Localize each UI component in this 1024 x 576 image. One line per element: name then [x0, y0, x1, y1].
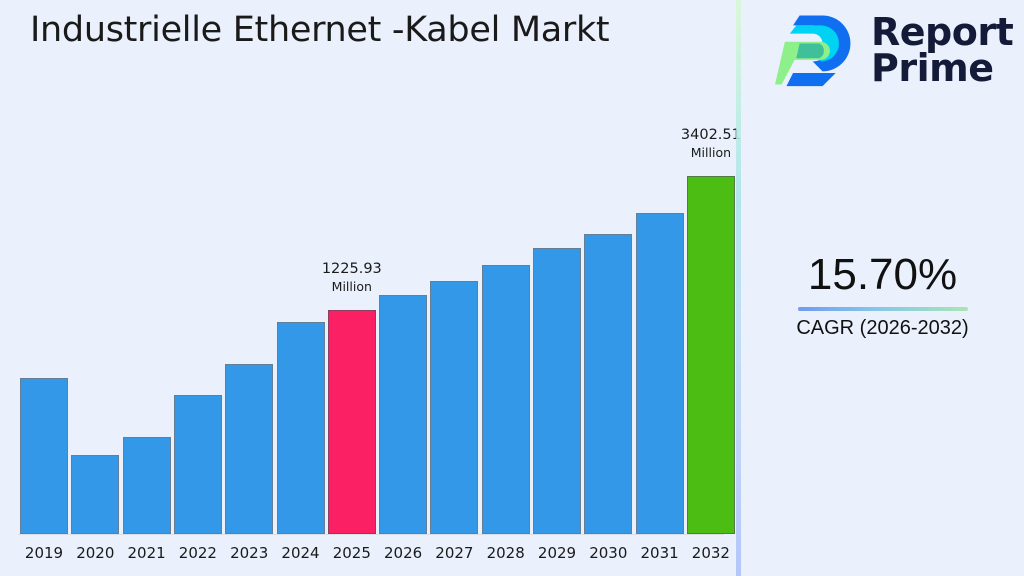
x-tick-2032: 2032	[687, 544, 735, 562]
bar-2027	[430, 281, 478, 534]
cagr-value: 15.70%	[741, 250, 1024, 300]
brand-name-line1: Report	[871, 14, 1013, 50]
bar-value-2025: 1225.93	[322, 261, 382, 277]
x-tick-2019: 2019	[20, 544, 68, 562]
cagr-block: 15.70% CAGR (2026-2032)	[741, 250, 1024, 340]
bar-2026	[379, 295, 427, 534]
bar-2025	[328, 310, 376, 534]
bar-unit-2025: Million	[298, 280, 406, 294]
bar-2020	[71, 455, 119, 534]
bar-2023	[225, 364, 273, 534]
x-axis-line	[18, 534, 724, 535]
bar-2031	[636, 213, 684, 534]
bar-value-2032: 3402.51	[681, 127, 741, 143]
report-prime-logo-icon	[775, 8, 857, 92]
bar-2029	[533, 248, 581, 534]
brand-logo: Report Prime	[775, 8, 1013, 92]
x-tick-2028: 2028	[482, 544, 530, 562]
bar-2019	[20, 378, 68, 534]
screenshot-root: Industrielle Ethernet -Kabel Markt 1225.…	[0, 0, 1024, 576]
bar-2028	[482, 265, 530, 534]
bar-value-label-2025: 1225.93Million	[298, 262, 406, 294]
x-tick-2024: 2024	[277, 544, 325, 562]
x-tick-2025: 2025	[328, 544, 376, 562]
bar-2024	[277, 322, 325, 534]
bar-chart: 1225.93Million3402.51Million 20192020202…	[0, 0, 736, 576]
bar-2022	[174, 395, 222, 534]
cagr-divider-rule	[798, 307, 968, 311]
bar-2032	[687, 176, 735, 534]
bar-2021	[123, 437, 171, 534]
x-tick-2029: 2029	[533, 544, 581, 562]
x-tick-2026: 2026	[379, 544, 427, 562]
x-tick-2022: 2022	[174, 544, 222, 562]
x-tick-2030: 2030	[584, 544, 632, 562]
x-tick-2023: 2023	[225, 544, 273, 562]
cagr-label: CAGR (2026-2032)	[741, 317, 1024, 340]
x-tick-2031: 2031	[636, 544, 684, 562]
brand-name-line2: Prime	[871, 50, 1013, 86]
x-tick-2020: 2020	[71, 544, 119, 562]
brand-name: Report Prime	[871, 14, 1013, 87]
x-tick-2027: 2027	[430, 544, 478, 562]
bar-2030	[584, 234, 632, 534]
right-panel: Report Prime 15.70% CAGR (2026-2032)	[741, 0, 1024, 576]
x-tick-2021: 2021	[123, 544, 171, 562]
